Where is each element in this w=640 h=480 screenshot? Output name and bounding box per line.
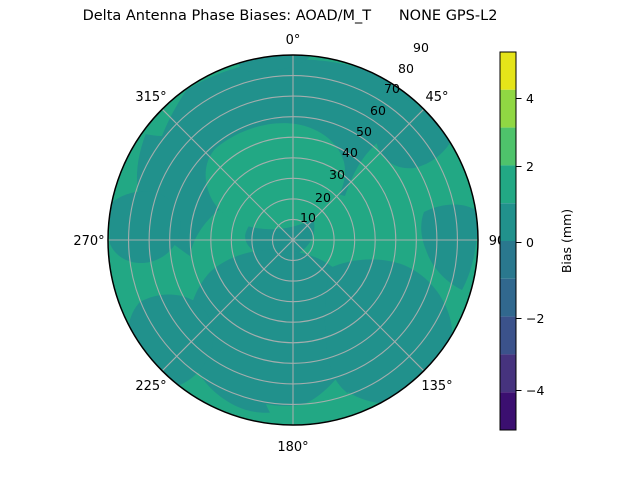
- colorbar-band-minus2-to-minus1: [500, 279, 516, 317]
- angular-tick-label-135: 135°: [421, 379, 452, 394]
- colorbar-ticks: [516, 99, 522, 391]
- angular-tick-label-225: 225°: [135, 379, 166, 394]
- colorbar-band-minus5-to-minus4: [500, 392, 516, 430]
- colorbar-band-minus1-to-0: [500, 241, 516, 279]
- colorbar-band-minus3-to-minus2: [500, 317, 516, 355]
- angular-tick-label-270: 270°: [73, 234, 104, 249]
- colorbar-band-1-to-2: [500, 165, 516, 203]
- radial-tick-label-70: 70: [384, 81, 400, 96]
- colorbar-band-minus4-to-minus3: [500, 354, 516, 392]
- radial-tick-label-20: 20: [315, 190, 331, 205]
- colorbar-axis-title: Bias (mm): [559, 209, 574, 273]
- radial-tick-label-40: 40: [342, 145, 358, 160]
- angular-tick-label-0: 0°: [286, 33, 301, 48]
- angular-tick-label-45: 45°: [425, 90, 448, 105]
- angular-tick-label-315: 315°: [135, 90, 166, 105]
- colorbar-band-3-to-4: [500, 90, 516, 128]
- colorbar-tick-label-4: 4: [526, 91, 534, 106]
- radial-tick-label-80: 80: [398, 61, 414, 76]
- radial-tick-label-50: 50: [356, 124, 372, 139]
- colorbar-band-4-to-5: [500, 52, 516, 90]
- colorbar-tick-label-minus4: −4: [526, 383, 544, 398]
- polar-grid: [108, 55, 478, 425]
- radial-tick-label-90: 90: [413, 40, 429, 55]
- colorbar-tick-label-0: 0: [526, 235, 534, 250]
- radial-tick-label-60: 60: [370, 103, 386, 118]
- colorbar: 4 2 0 −2 −4 Bias (mm): [500, 52, 574, 430]
- radial-tick-label-30: 30: [329, 167, 345, 182]
- colorbar-band-0-to-1: [500, 203, 516, 241]
- polar-plot-svg: 10 20 30 40 50 60 70 80 90 0° 45° 90 135…: [0, 0, 640, 480]
- colorbar-band-2-to-3: [500, 128, 516, 166]
- matplotlib-figure: Delta Antenna Phase Biases: AOAD/M_T NON…: [0, 0, 640, 480]
- angular-tick-label-180: 180°: [277, 440, 308, 455]
- colorbar-tick-label-2: 2: [526, 159, 534, 174]
- colorbar-tick-label-minus2: −2: [526, 311, 544, 326]
- radial-tick-label-10: 10: [300, 210, 316, 225]
